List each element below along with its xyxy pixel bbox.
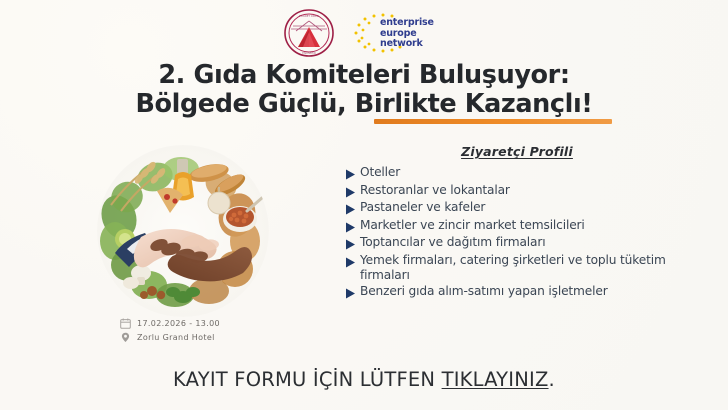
- list-item: Yemek firmaları, catering şirketleri ve …: [345, 253, 675, 283]
- list-item-label: Toptancılar ve dağıtım firmaları: [360, 235, 545, 250]
- triangle-bullet-icon: [345, 186, 356, 199]
- svg-text:ESKISEHIR: ESKISEHIR: [302, 51, 316, 55]
- visitor-profile-heading: Ziyaretçi Profili: [359, 144, 675, 159]
- list-item-label: Oteller: [360, 165, 400, 180]
- enterprise-europe-network-logo: enterprise europe network: [350, 10, 446, 56]
- logo-row: TICARET ODASI ESKISEHIR ente: [0, 6, 728, 60]
- triangle-bullet-icon: [345, 168, 356, 181]
- cta-link-tiklayiniz[interactable]: TIKLAYINIZ: [442, 368, 549, 391]
- chamber-crest-logo: TICARET ODASI ESKISEHIR: [282, 8, 336, 58]
- list-item: Oteller: [345, 165, 675, 181]
- triangle-bullet-icon: [345, 238, 356, 251]
- title-underline-accent: [374, 119, 612, 124]
- page-title: 2. Gıda Komiteleri Buluşuyor: Bölgede Gü…: [0, 61, 728, 119]
- event-poster: TICARET ODASI ESKISEHIR ente: [0, 0, 728, 410]
- event-meta: 17.02.2026 - 13.00 Zorlu Grand Hotel: [120, 318, 220, 343]
- list-item-label: Marketler ve zincir market temsilcileri: [360, 218, 585, 233]
- event-date-row: 17.02.2026 - 13.00: [120, 318, 220, 329]
- event-location-row: Zorlu Grand Hotel: [120, 332, 220, 343]
- title-line-1: 2. Gıda Komiteleri Buluşuyor:: [0, 61, 728, 90]
- calendar-icon: [120, 318, 131, 329]
- list-item: Restoranlar ve lokantalar: [345, 183, 675, 199]
- visitor-profile-list: Oteller Restoranlar ve lokantalar Pastan…: [345, 165, 675, 300]
- svg-text:TICARET ODASI: TICARET ODASI: [299, 14, 319, 18]
- handshake-food-wreath-illustration: [97, 145, 269, 317]
- location-pin-icon: [120, 332, 131, 343]
- een-logo-text: enterprise europe network: [380, 18, 434, 50]
- triangle-bullet-icon: [345, 203, 356, 216]
- list-item: Pastaneler ve kafeler: [345, 200, 675, 216]
- event-date-text: 17.02.2026 - 13.00: [137, 319, 220, 328]
- list-item-label: Restoranlar ve lokantalar: [360, 183, 510, 198]
- registration-cta[interactable]: KAYIT FORMU İÇİN LÜTFEN TIKLAYINIZ.: [0, 368, 728, 391]
- cta-prefix-text: KAYIT FORMU İÇİN LÜTFEN: [173, 368, 442, 391]
- list-item: Toptancılar ve dağıtım firmaları: [345, 235, 675, 251]
- list-item-label: Yemek firmaları, catering şirketleri ve …: [360, 253, 675, 283]
- triangle-bullet-icon: [345, 256, 356, 269]
- triangle-bullet-icon: [345, 287, 356, 300]
- list-item-label: Pastaneler ve kafeler: [360, 200, 485, 215]
- list-item: Benzeri gıda alım-satımı yapan işletmele…: [345, 284, 675, 300]
- event-location-text: Zorlu Grand Hotel: [137, 333, 215, 342]
- visitor-profile-section: Ziyaretçi Profili Oteller Restoranlar ve…: [345, 144, 675, 302]
- list-item: Marketler ve zincir market temsilcileri: [345, 218, 675, 234]
- list-item-label: Benzeri gıda alım-satımı yapan işletmele…: [360, 284, 608, 299]
- cta-suffix-text: .: [549, 368, 555, 391]
- title-line-2: Bölgede Güçlü, Birlikte Kazançlı!: [0, 90, 728, 119]
- triangle-bullet-icon: [345, 221, 356, 234]
